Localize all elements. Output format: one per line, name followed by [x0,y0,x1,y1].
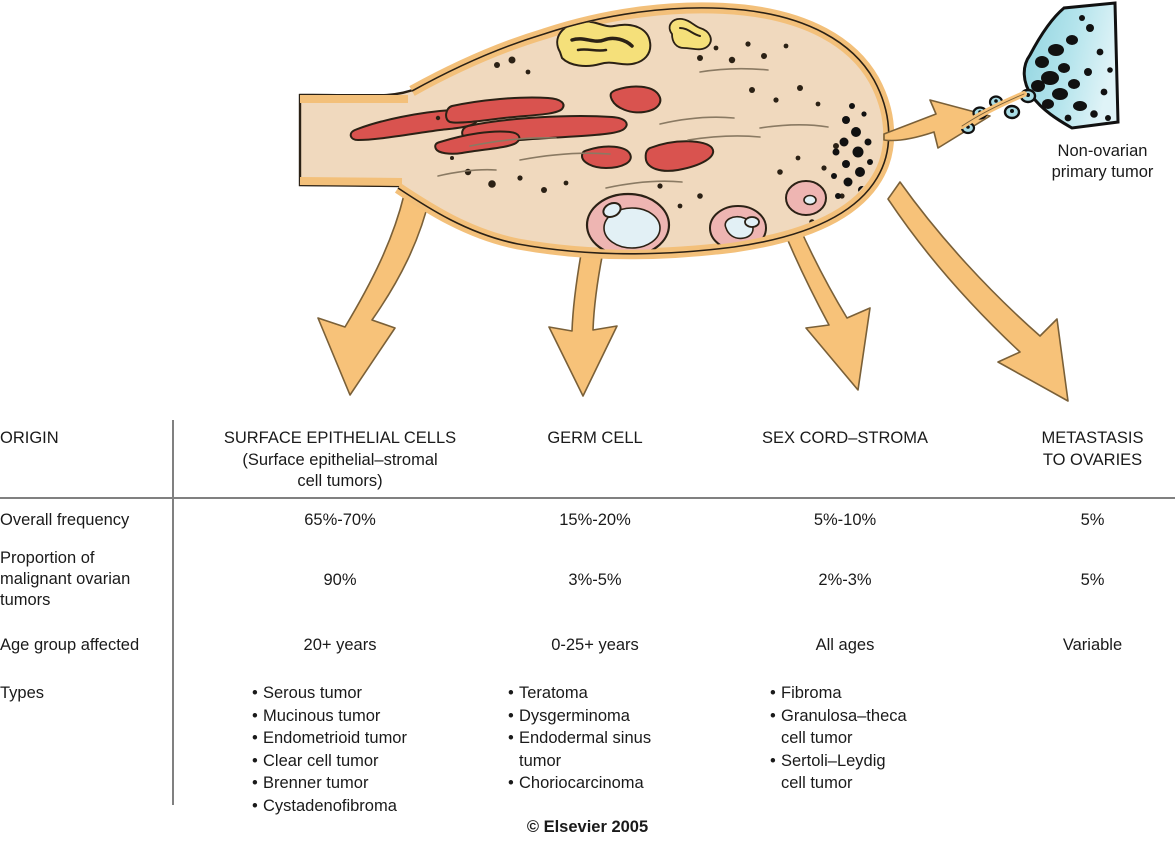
types-list-germ-cell: •Teratoma •Dysgerminoma •Endodermal sinu… [508,682,651,795]
row-label-types: Types [0,683,165,704]
row-label-proportion-line1: Proportion of [0,549,94,567]
ovary-cross-section [300,8,889,256]
cell-overall-frequency-metastasis: 5% [1010,510,1175,531]
type-label-continuation: cell tumor [770,772,907,795]
bullet-icon: • [252,772,263,795]
types-list-sex-cord-stroma: •Fibroma •Granulosa–thecacell tumor •Ser… [770,682,907,795]
list-item: •Endometrioid tumor [252,727,407,750]
list-item: •Mucinous tumor [252,705,407,728]
cell-proportion-sex-cord-stroma: 2%-3% [700,570,990,591]
list-item: •Fibroma [770,682,907,705]
column-header-sex-cord-stroma: SEX CORD–STROMA [700,428,990,450]
type-label: Sertoli–Leydig [781,752,886,770]
arrow-surface-epithelial [318,195,430,395]
type-label: Endometrioid tumor [263,729,407,747]
figure-page: Non-ovarian primary tumor ORIGIN Overall… [0,0,1175,841]
cell-age-group-surface-epithelial: 20+ years [180,635,500,656]
list-item: •Brenner tumor [252,772,407,795]
type-label: Teratoma [519,684,588,702]
bullet-icon: • [508,682,519,705]
list-item: •Cystadenofibroma [252,795,407,818]
bullet-icon: • [252,682,263,705]
ovary-illustration [0,0,1175,420]
column-header-sex-cord-stroma-main: SEX CORD–STROMA [762,429,928,447]
type-label: Dysgerminoma [519,707,630,725]
list-item: •Granulosa–thecacell tumor [770,705,907,750]
type-label: Brenner tumor [263,774,368,792]
bullet-icon: • [252,727,263,750]
column-header-germ-cell-main: GERM CELL [547,429,642,447]
type-label-continuation: tumor [508,750,651,773]
arrow-metastasis-down [888,182,1068,401]
type-label: Cystadenofibroma [263,797,397,815]
type-label: Fibroma [781,684,842,702]
column-header-germ-cell: GERM CELL [460,428,730,450]
bullet-icon: • [508,772,519,795]
column-header-surface-epithelial-sub1: (Surface epithelial–stromal [180,450,500,472]
cell-overall-frequency-surface-epithelial: 65%-70% [180,510,500,531]
types-list-surface-epithelial: •Serous tumor •Mucinous tumor •Endometri… [252,682,407,817]
follicle-medium-oocyte [745,217,759,227]
column-header-surface-epithelial-sub2: cell tumors) [180,471,500,493]
table-header-divider [0,497,1175,499]
column-header-metastasis-main: METASTASIS [1041,429,1143,447]
cell-proportion-germ-cell: 3%-5% [460,570,730,591]
column-header-surface-epithelial: SURFACE EPITHELIAL CELLS (Surface epithe… [180,428,500,493]
cell-age-group-germ-cell: 0-25+ years [460,635,730,656]
type-label: Granulosa–theca [781,707,907,725]
tumor-label-line1: Non-ovarian [1058,142,1148,160]
non-ovarian-primary-tumor [962,3,1118,133]
non-ovarian-primary-tumor-label: Non-ovarian primary tumor [1030,141,1175,183]
row-label-proportion-line2: malignant ovarian [0,570,130,588]
table-vertical-divider [172,420,174,805]
cell-overall-frequency-germ-cell: 15%-20% [460,510,730,531]
type-label: Choriocarcinoma [519,774,644,792]
arrow-metastasis-into-ovary [884,100,990,148]
type-label: Clear cell tumor [263,752,379,770]
bullet-icon: • [770,705,781,728]
column-header-metastasis-sub1: TO OVARIES [1010,450,1175,472]
cell-proportion-metastasis: 5% [1010,570,1175,591]
ovarian-tumor-table: ORIGIN Overall frequency Proportion of m… [0,420,1175,820]
bullet-icon: • [770,750,781,773]
type-label-continuation: cell tumor [770,727,907,750]
row-label-proportion-line3: tumors [0,591,50,609]
list-item: •Endodermal sinustumor [508,727,651,772]
list-item: •Teratoma [508,682,651,705]
row-label-origin: ORIGIN [0,428,165,449]
column-header-surface-epithelial-main: SURFACE EPITHELIAL CELLS [224,429,456,447]
follicle-small-antrum [804,196,816,205]
type-label: Mucinous tumor [263,707,380,725]
cell-proportion-surface-epithelial: 90% [180,570,500,591]
tumor-label-line2: primary tumor [1052,163,1154,181]
cell-age-group-metastasis: Variable [1010,635,1175,656]
bullet-icon: • [252,795,263,818]
list-item: •Choriocarcinoma [508,772,651,795]
type-label: Serous tumor [263,684,362,702]
type-label: Endodermal sinus [519,729,651,747]
corpus-luteum-large [557,22,650,66]
cell-age-group-sex-cord-stroma: All ages [700,635,990,656]
row-label-proportion: Proportion of malignant ovarian tumors [0,548,165,611]
bullet-icon: • [508,727,519,750]
bullet-icon: • [252,705,263,728]
stalk-lower-band [300,181,402,182]
list-item: •Serous tumor [252,682,407,705]
row-label-overall-frequency: Overall frequency [0,510,165,531]
list-item: •Dysgerminoma [508,705,651,728]
cell-overall-frequency-sex-cord-stroma: 5%-10% [700,510,990,531]
list-item: •Sertoli–Leydigcell tumor [770,750,907,795]
bullet-icon: • [770,682,781,705]
bullet-icon: • [252,750,263,773]
row-label-age-group: Age group affected [0,635,165,656]
column-header-metastasis: METASTASIS TO OVARIES [1010,428,1175,471]
copyright-notice: © Elsevier 2005 [0,818,1175,837]
list-item: •Clear cell tumor [252,750,407,773]
bullet-icon: • [508,705,519,728]
corpus-luteum-fold-2 [578,49,606,50]
